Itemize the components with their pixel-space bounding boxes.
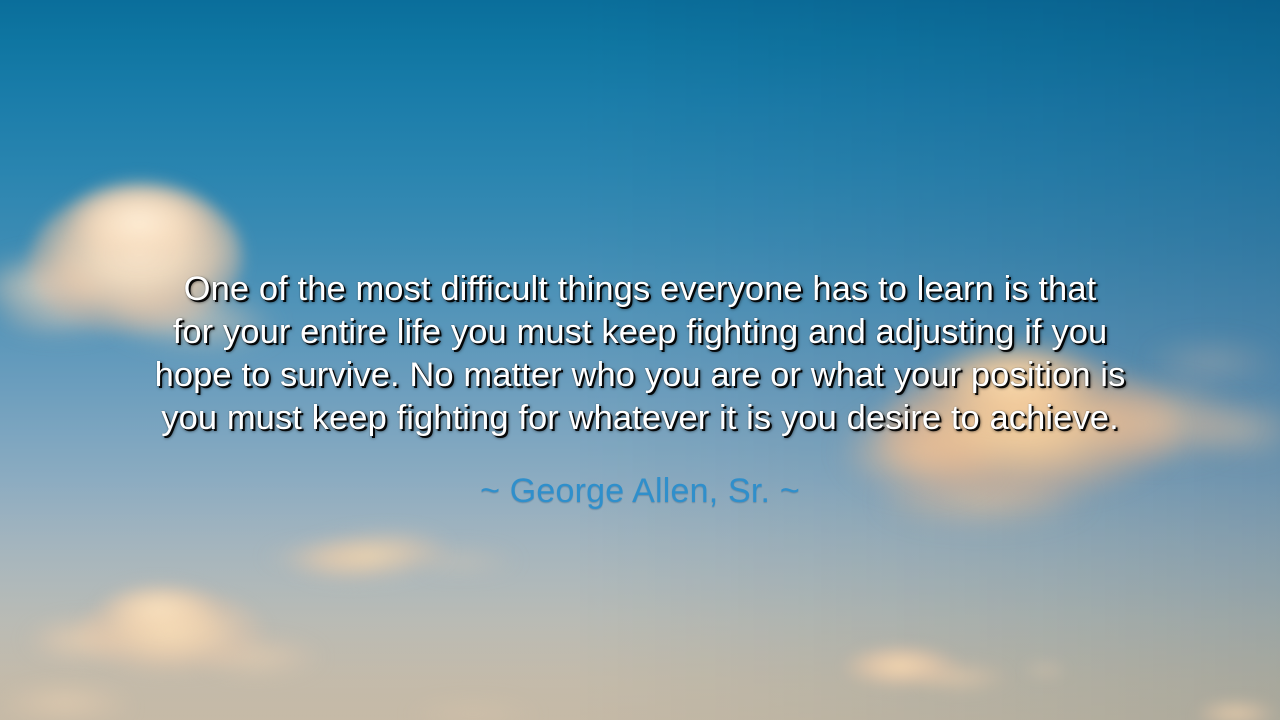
quote-image-canvas: One of the most difficult things everyon… (0, 0, 1280, 720)
sky-right-tint (0, 0, 1280, 720)
